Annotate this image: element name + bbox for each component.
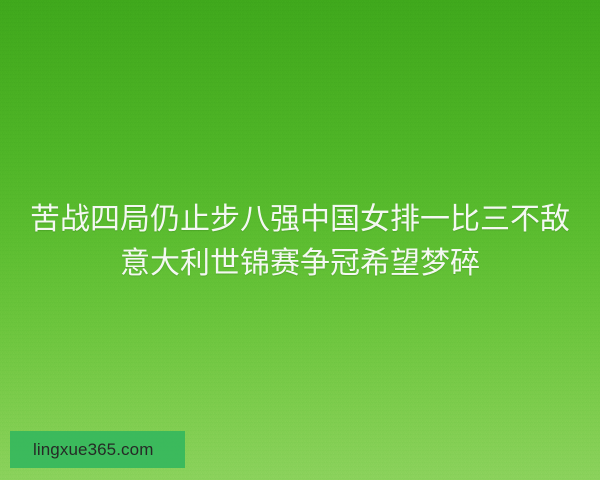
article-thumbnail-card: 苦战四局仍止步八强中国女排一比三不敌 意大利世锦赛争冠希望梦碎 lingxue3… [0,0,600,480]
watermark-badge: lingxue365.com [10,431,185,468]
headline-title: 苦战四局仍止步八强中国女排一比三不敌 意大利世锦赛争冠希望梦碎 [0,198,600,286]
watermark-label: lingxue365.com [10,441,153,458]
